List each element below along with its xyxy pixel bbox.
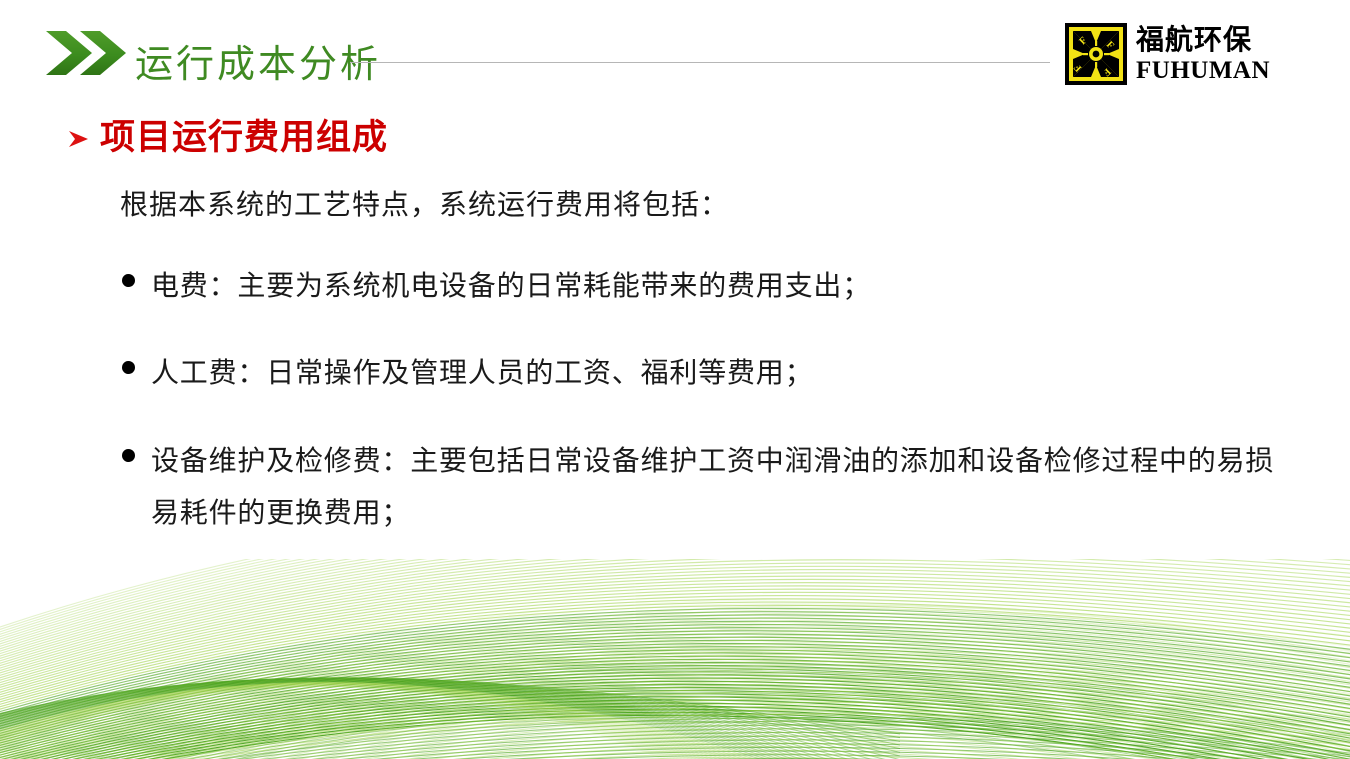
section-heading-text: 项目运行费用组成 bbox=[100, 118, 388, 158]
double-chevron-right-icon bbox=[44, 28, 130, 78]
list-item: 设备维护及检修费：主要包括日常设备维护工资中润滑油的添加和设备检修过程中的易损易… bbox=[122, 436, 1282, 540]
page-title: 运行成本分析 bbox=[135, 33, 381, 88]
logo-wordmark: 福航环保 FUHUMAN bbox=[1136, 26, 1270, 83]
slide-body: 项目运行费用组成 根据本系统的工艺特点，系统运行费用将包括： 电费：主要为系统机… bbox=[0, 118, 1350, 576]
bullet-dot-icon bbox=[122, 361, 135, 374]
company-logo: F F F F 福航环保 FUHUMAN bbox=[1065, 22, 1270, 86]
bullet-list: 电费：主要为系统机电设备的日常耗能带来的费用支出； 人工费：日常操作及管理人员的… bbox=[0, 261, 1350, 540]
section-heading: 项目运行费用组成 bbox=[66, 118, 1350, 158]
list-item-text: 人工费：日常操作及管理人员的工资、福利等费用； bbox=[151, 348, 813, 400]
green-ribbon-wave bbox=[0, 559, 1350, 759]
slide: 运行成本分析 bbox=[0, 0, 1350, 759]
bullet-dot-icon bbox=[122, 449, 135, 462]
list-item-text: 电费：主要为系统机电设备的日常耗能带来的费用支出； bbox=[151, 261, 871, 313]
slide-header: 运行成本分析 bbox=[0, 0, 1350, 105]
title-underline-rule bbox=[350, 62, 1050, 63]
list-item: 电费：主要为系统机电设备的日常耗能带来的费用支出； bbox=[122, 261, 1282, 313]
logo-english-name: FUHUMAN bbox=[1136, 58, 1270, 83]
intro-paragraph: 根据本系统的工艺特点，系统运行费用将包括： bbox=[120, 188, 1350, 224]
logo-chinese-name: 福航环保 bbox=[1136, 26, 1270, 54]
list-item: 人工费：日常操作及管理人员的工资、福利等费用； bbox=[122, 348, 1282, 400]
list-item-text: 设备维护及检修费：主要包括日常设备维护工资中润滑油的添加和设备检修过程中的易损易… bbox=[151, 436, 1282, 540]
bullet-dot-icon bbox=[122, 274, 135, 287]
fuhuman-emblem-icon: F F F F bbox=[1065, 23, 1127, 85]
red-arrow-bullet-icon bbox=[66, 120, 90, 144]
